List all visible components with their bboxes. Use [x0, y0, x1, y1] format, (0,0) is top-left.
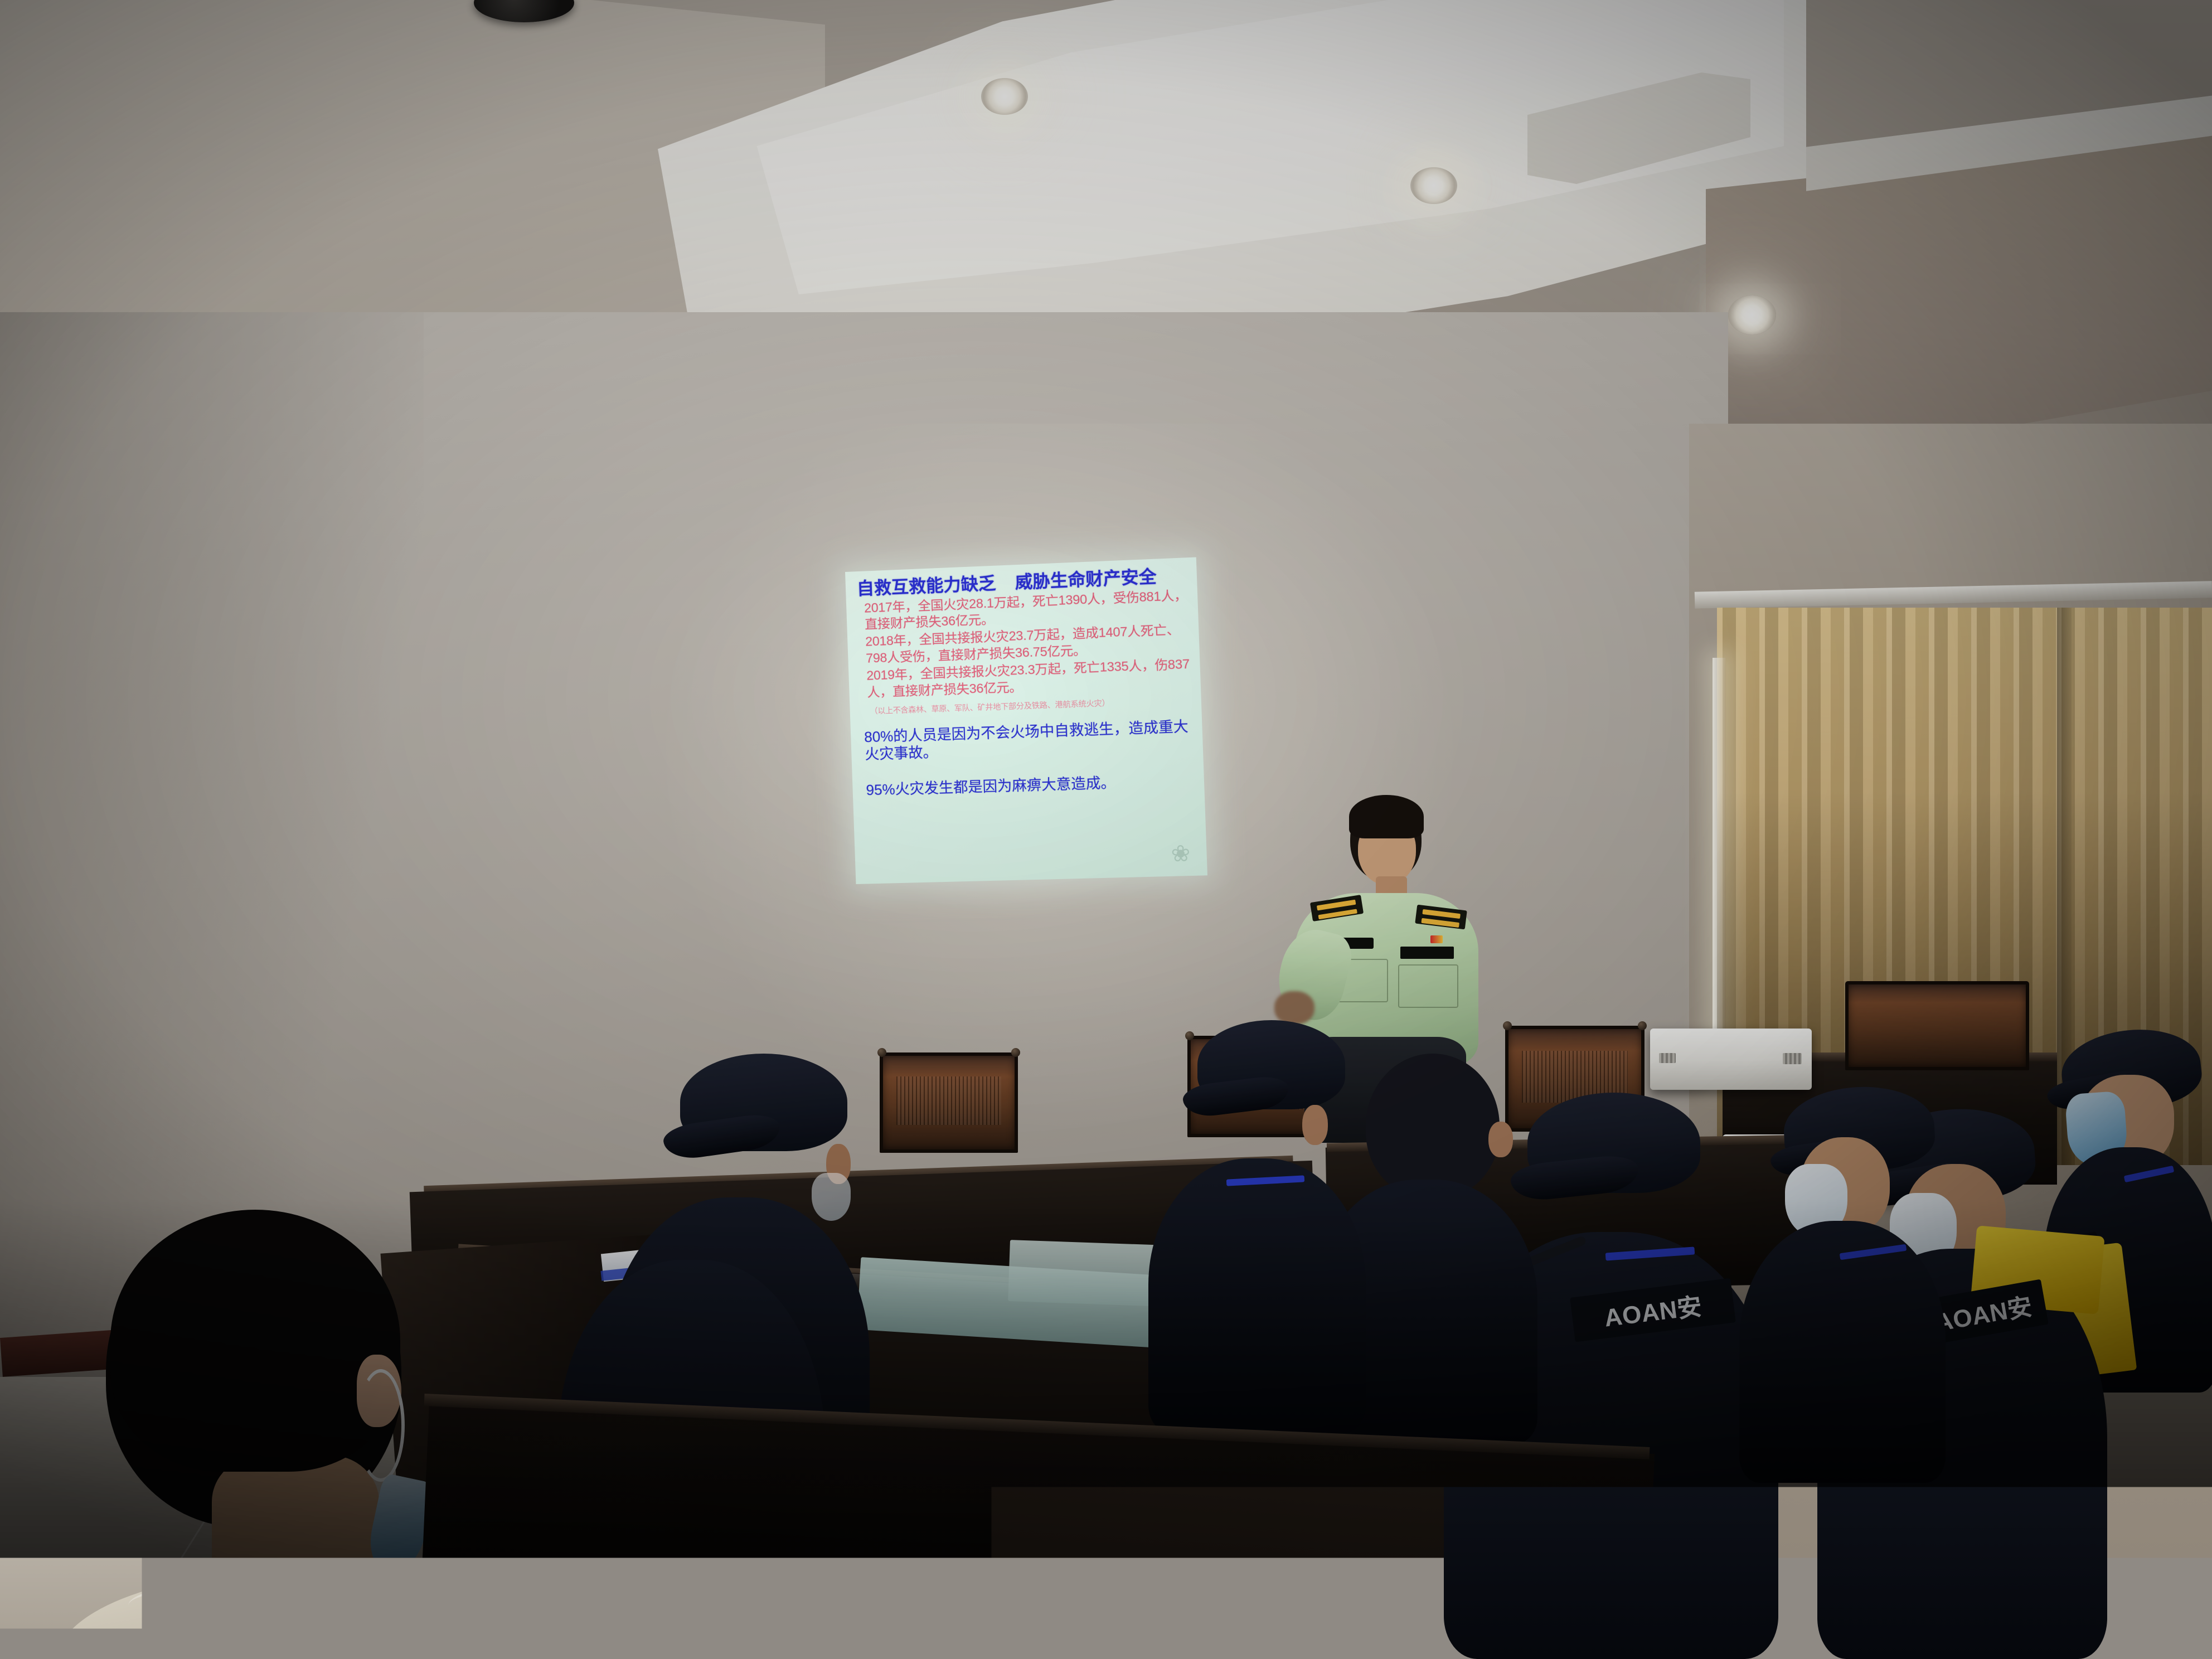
equipment-case	[1650, 1029, 1812, 1090]
attendee-collar	[128, 1578, 429, 1633]
photo-scene: 自救互救能力缺乏 威胁生命财产安全 2017年，全国火灾28.1万起，死亡139…	[0, 0, 2212, 1659]
chair-knob-right	[1638, 1021, 1647, 1030]
cap-brim-icon	[662, 1112, 783, 1162]
attendee-torso	[1148, 1158, 1366, 1433]
case-latch	[1659, 1053, 1676, 1063]
baoan-patch-partial-text: AOAN安	[1602, 1287, 1704, 1334]
attendee-ear	[1488, 1122, 1513, 1157]
flower-watermark-icon: ❀	[1163, 837, 1198, 871]
chair-knob-left	[1503, 1021, 1512, 1030]
attendee-ear	[1302, 1105, 1328, 1145]
presenter-pocket-right	[1398, 964, 1458, 1008]
ceiling-downlight-1	[981, 78, 1028, 115]
presenter-hand	[1274, 991, 1314, 1025]
white-mask-icon	[812, 1173, 851, 1221]
chair-slats	[896, 1076, 1002, 1125]
ceiling-downlight-3	[1728, 295, 1776, 334]
presenter-nametag	[1400, 947, 1454, 959]
presenter-flag-pin-icon	[1430, 935, 1443, 943]
attendee-head	[1366, 1054, 1500, 1199]
attendee-left-center	[1137, 1020, 1371, 1433]
slide-highlight-80: 80%的人员是因为不会火场中自救逃生，造成重大火灾事故。	[864, 717, 1195, 763]
presenter-hair	[1349, 795, 1424, 838]
ceiling-downlight-2	[1410, 167, 1457, 204]
attendee-torso	[1739, 1221, 1946, 1483]
slide-highlight-95: 95%火灾发生都是因为麻痹大意造成。	[866, 772, 1196, 799]
mask-ear-loop	[357, 1369, 405, 1482]
case-latch-2	[1783, 1053, 1802, 1064]
chair-back	[880, 1052, 1018, 1153]
chair-knob-right	[1011, 1048, 1020, 1057]
projected-slide: 自救互救能力缺乏 威胁生命财产安全 2017年，全国火灾28.1万起，死亡139…	[845, 557, 1207, 884]
chair-knob-left	[877, 1048, 886, 1057]
attendee-right-masked	[1717, 1081, 1951, 1483]
chair-left	[880, 1052, 1018, 1153]
